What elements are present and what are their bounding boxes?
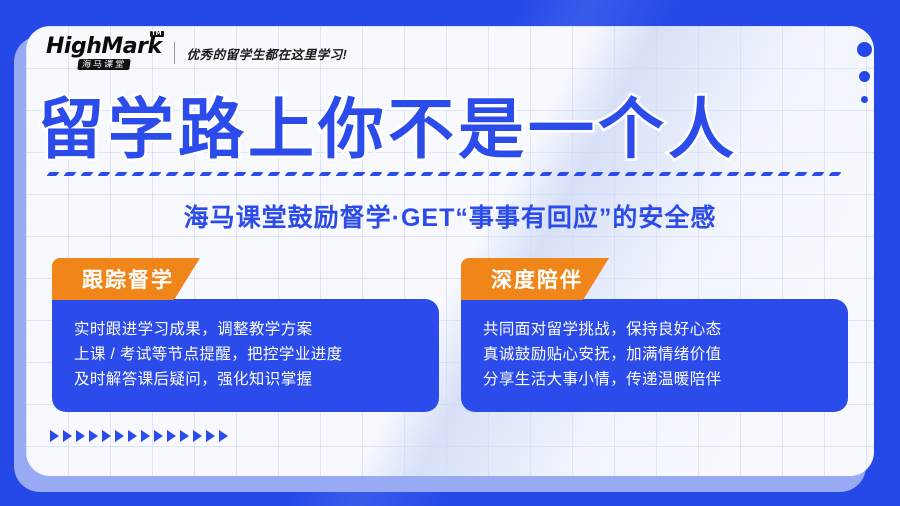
tick-mark <box>692 170 709 184</box>
tick-mark <box>828 170 845 184</box>
dashed-tick-divider <box>46 170 846 184</box>
tick-mark <box>624 170 641 184</box>
tick-mark <box>437 170 454 184</box>
tick-mark <box>794 170 811 184</box>
card-tab-label: 跟踪督学 <box>52 264 200 294</box>
tick-mark <box>726 170 743 184</box>
tick-mark <box>743 170 760 184</box>
tick-mark <box>403 170 420 184</box>
tick-mark <box>607 170 624 184</box>
tick-mark <box>267 170 284 184</box>
tick-mark <box>114 170 131 184</box>
tick-mark <box>80 170 97 184</box>
dot-medium <box>859 71 870 82</box>
brand-tagline: 优秀的留学生都在这里学习! <box>187 44 348 63</box>
arrow-icon <box>76 430 85 442</box>
tick-mark <box>335 170 352 184</box>
dot-small <box>861 96 868 103</box>
tick-mark <box>522 170 539 184</box>
tick-mark <box>301 170 318 184</box>
tick-mark <box>454 170 471 184</box>
tick-mark <box>250 170 267 184</box>
tick-mark <box>386 170 403 184</box>
dot-decoration <box>857 42 872 103</box>
card-line: 上课 / 考试等节点提醒，把控学业进度 <box>74 342 417 367</box>
tick-mark <box>233 170 250 184</box>
arrow-icon <box>154 430 163 442</box>
logo-wordmark-text: HighMark <box>46 34 162 59</box>
arrow-icon <box>50 430 59 442</box>
feature-card: 跟踪督学 实时跟进学习成果，调整教学方案 上课 / 考试等节点提醒，把控学业进度… <box>52 258 439 412</box>
card-tab-label: 深度陪伴 <box>461 264 609 294</box>
tick-mark <box>318 170 335 184</box>
card-tab-wrap: 跟踪督学 <box>52 258 439 300</box>
tick-mark <box>573 170 590 184</box>
card-line: 共同面对留学挑战，保持良好心态 <box>483 317 826 342</box>
tick-mark <box>777 170 794 184</box>
arrow-icon <box>167 430 176 442</box>
tick-mark <box>811 170 828 184</box>
tick-mark <box>352 170 369 184</box>
arrow-icon <box>180 430 189 442</box>
tick-mark <box>658 170 675 184</box>
card-body: 实时跟进学习成果，调整教学方案 上课 / 考试等节点提醒，把控学业进度 及时解答… <box>52 299 439 412</box>
arrow-icon <box>63 430 72 442</box>
tick-mark <box>216 170 233 184</box>
tick-mark <box>199 170 216 184</box>
tick-mark <box>488 170 505 184</box>
card-line: 真诚鼓励贴心安抚，加满情绪价值 <box>483 342 826 367</box>
tick-mark <box>148 170 165 184</box>
card-body: 共同面对留学挑战，保持良好心态 真诚鼓励贴心安抚，加满情绪价值 分享生活大事小情… <box>461 299 848 412</box>
feature-card: 深度陪伴 共同面对留学挑战，保持良好心态 真诚鼓励贴心安抚，加满情绪价值 分享生… <box>461 258 848 412</box>
feature-cards: 跟踪督学 实时跟进学习成果，调整教学方案 上课 / 考试等节点提醒，把控学业进度… <box>52 258 848 412</box>
tick-mark <box>505 170 522 184</box>
trademark-badge: TM <box>150 31 164 37</box>
tick-mark <box>556 170 573 184</box>
arrow-marker-row <box>50 430 228 442</box>
tick-mark <box>165 170 182 184</box>
arrow-icon <box>206 430 215 442</box>
tick-mark <box>46 170 63 184</box>
hero-subtitle: 海马课堂鼓励督学·GET“事事有回应”的安全感 <box>0 198 900 234</box>
card-line: 及时解答课后疑问，强化知识掌握 <box>74 367 417 392</box>
card-tab: 跟踪督学 <box>52 258 200 300</box>
arrow-icon <box>89 430 98 442</box>
arrow-icon <box>128 430 137 442</box>
header-divider <box>174 42 175 64</box>
arrow-icon <box>141 430 150 442</box>
tick-mark <box>471 170 488 184</box>
tick-mark <box>641 170 658 184</box>
logo-wordmark: HighMark TM <box>46 36 162 58</box>
card-line: 实时跟进学习成果，调整教学方案 <box>74 317 417 342</box>
poster-canvas: HighMark TM 海马课堂 优秀的留学生都在这里学习! 留学路上你不是一个… <box>0 0 900 506</box>
tick-mark <box>63 170 80 184</box>
tick-mark <box>675 170 692 184</box>
arrow-icon <box>219 430 228 442</box>
tick-mark <box>760 170 777 184</box>
tick-mark <box>590 170 607 184</box>
arrow-icon <box>193 430 202 442</box>
hero-headline: 留学路上你不是一个人 <box>38 76 838 172</box>
brand-logo: HighMark TM 海马课堂 <box>46 36 162 70</box>
card-tab-wrap: 深度陪伴 <box>461 258 848 300</box>
brand-header: HighMark TM 海马课堂 优秀的留学生都在这里学习! <box>46 36 347 70</box>
logo-subtitle: 海马课堂 <box>77 59 131 70</box>
arrow-icon <box>115 430 124 442</box>
tick-mark <box>284 170 301 184</box>
dot-large <box>857 42 872 57</box>
tick-mark <box>369 170 386 184</box>
tick-mark <box>182 170 199 184</box>
tick-mark <box>420 170 437 184</box>
card-tab: 深度陪伴 <box>461 258 609 300</box>
tick-mark <box>709 170 726 184</box>
card-line: 分享生活大事小情，传递温暖陪伴 <box>483 367 826 392</box>
arrow-icon <box>102 430 111 442</box>
tick-mark <box>97 170 114 184</box>
tick-mark <box>131 170 148 184</box>
tick-mark <box>539 170 556 184</box>
